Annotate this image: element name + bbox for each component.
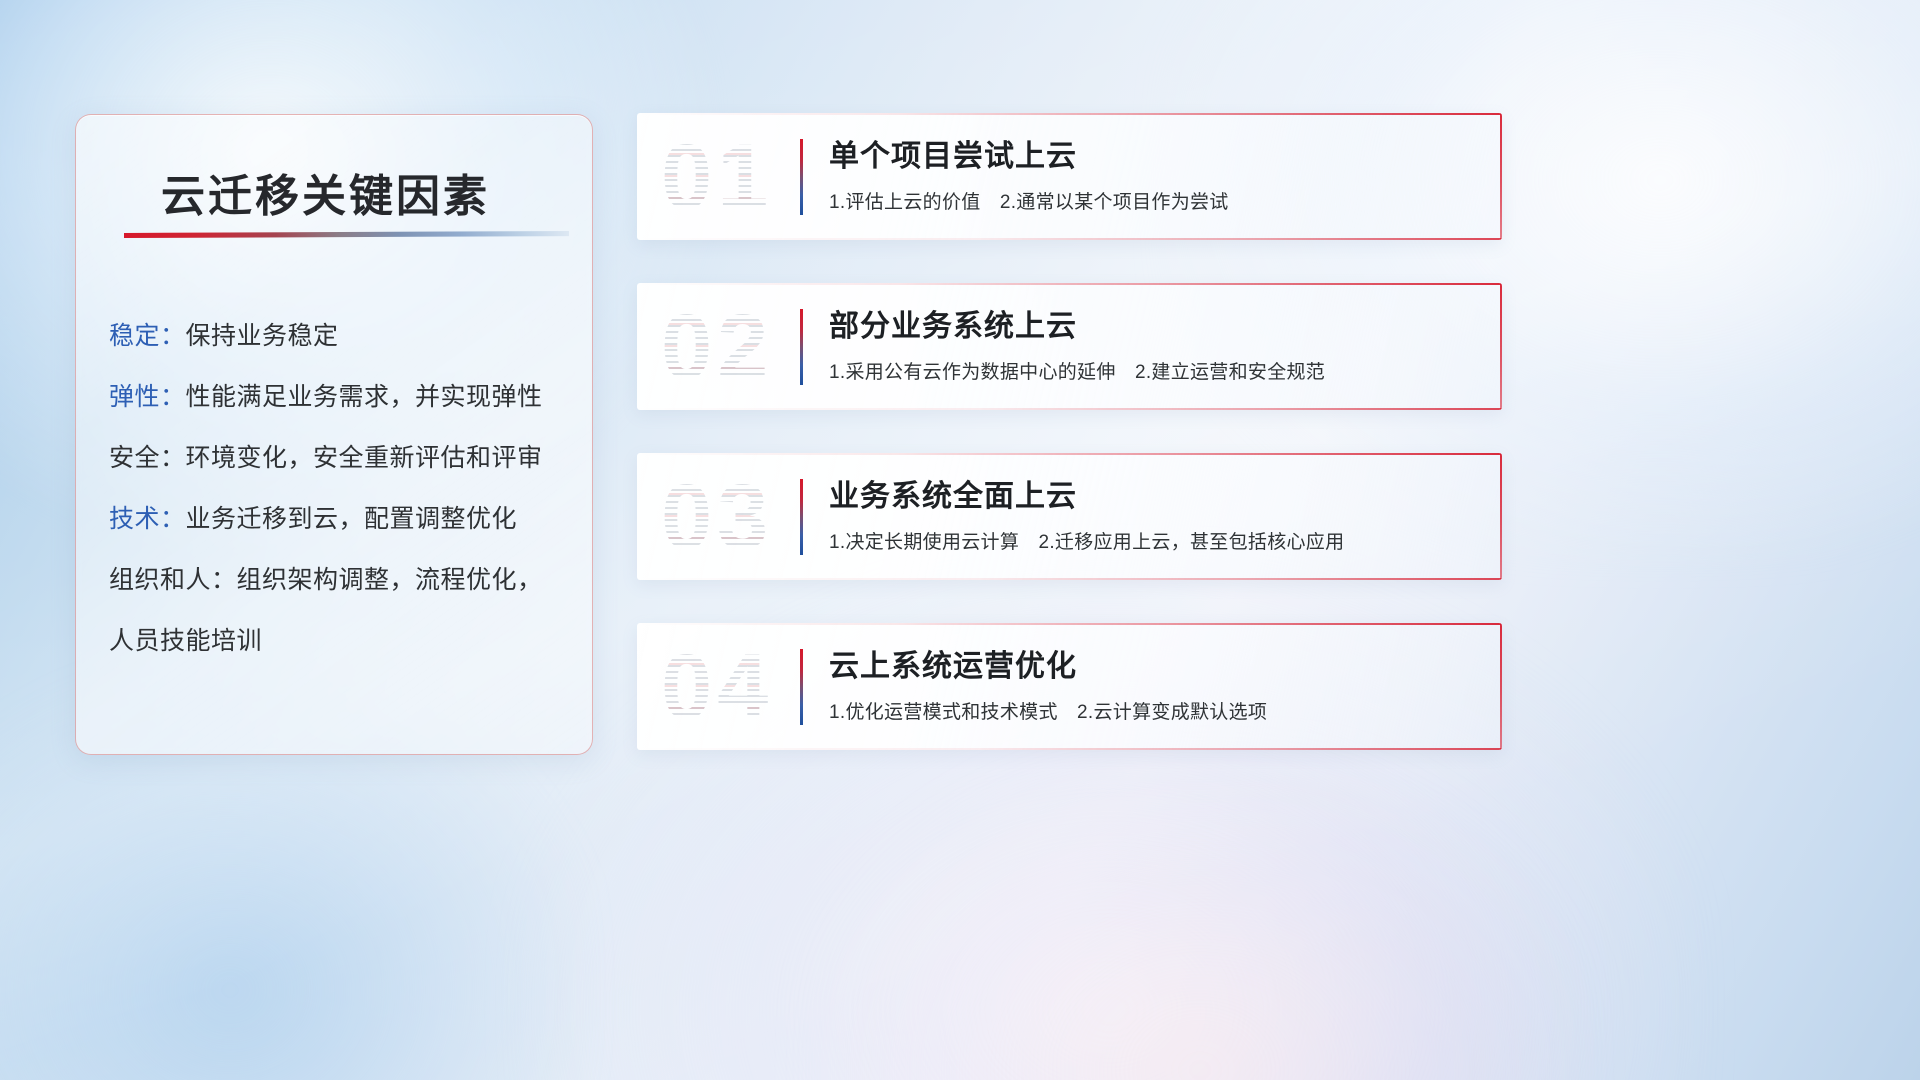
list-item-text: 业务迁移到云，配置调整优化 bbox=[186, 505, 518, 533]
card-divider-bar bbox=[800, 649, 803, 725]
stage-card-body: 业务系统全面上云 1.决定长期使用云计算 2.迁移应用上云，甚至包括核心应用 bbox=[829, 477, 1486, 554]
stage-card[interactable]: 04 04 云上系统运营优化 1.优化运营模式和技术模式 2.云计算变成默认选项 bbox=[637, 623, 1502, 750]
card-bottom-accent bbox=[637, 748, 1502, 750]
list-item-continuation: 人员技能培训 bbox=[109, 611, 574, 672]
list-item-label: 稳定： bbox=[109, 322, 186, 350]
card-divider-bar bbox=[800, 139, 803, 215]
list-item-label: 技术： bbox=[109, 505, 186, 533]
stage-card-heading: 单个项目尝试上云 bbox=[829, 137, 1486, 177]
list-item: 技术：业务迁移到云，配置调整优化 bbox=[109, 489, 574, 550]
stage-card[interactable]: 02 02 部分业务系统上云 1.采用公有云作为数据中心的延伸 2.建立运营和安… bbox=[637, 283, 1502, 410]
stage-card-description: 1.评估上云的价值 2.通常以某个项目作为尝试 bbox=[829, 187, 1486, 214]
stage-number-ghost-tint: 01 bbox=[661, 131, 773, 223]
slide-canvas: 云迁移关键因素 稳定：保持业务稳定 弹性：性能满足业务需求，并实现弹性 安全：环… bbox=[0, 0, 1920, 1080]
card-divider-bar bbox=[800, 309, 803, 385]
card-right-accent bbox=[1500, 113, 1502, 240]
list-item-label: 组织和人： bbox=[109, 566, 237, 594]
list-item-label: 安全： bbox=[109, 444, 186, 472]
stage-card[interactable]: 03 03 业务系统全面上云 1.决定长期使用云计算 2.迁移应用上云，甚至包括… bbox=[637, 453, 1502, 580]
card-divider-bar bbox=[800, 479, 803, 555]
list-item: 安全：环境变化，安全重新评估和评审 bbox=[109, 428, 574, 489]
list-item: 组织和人：组织架构调整，流程优化， bbox=[109, 550, 574, 611]
list-item-text: 人员技能培训 bbox=[109, 627, 262, 655]
card-top-accent bbox=[637, 113, 1502, 115]
stage-card-heading: 部分业务系统上云 bbox=[829, 307, 1486, 347]
card-top-accent bbox=[637, 283, 1502, 285]
stage-card-body: 部分业务系统上云 1.采用公有云作为数据中心的延伸 2.建立运营和安全规范 bbox=[829, 307, 1486, 384]
stage-card-description: 1.优化运营模式和技术模式 2.云计算变成默认选项 bbox=[829, 697, 1486, 724]
stage-card-description: 1.采用公有云作为数据中心的延伸 2.建立运营和安全规范 bbox=[829, 357, 1486, 384]
card-top-accent bbox=[637, 623, 1502, 625]
stage-card-body: 单个项目尝试上云 1.评估上云的价值 2.通常以某个项目作为尝试 bbox=[829, 137, 1486, 214]
card-right-accent bbox=[1500, 453, 1502, 580]
stage-number-ghost-tint: 02 bbox=[661, 301, 773, 393]
stage-card-body: 云上系统运营优化 1.优化运营模式和技术模式 2.云计算变成默认选项 bbox=[829, 647, 1486, 724]
card-right-accent bbox=[1500, 623, 1502, 750]
stage-card-heading: 业务系统全面上云 bbox=[829, 477, 1486, 517]
card-bottom-accent bbox=[637, 578, 1502, 580]
list-item: 稳定：保持业务稳定 bbox=[109, 306, 574, 367]
list-item-label: 弹性： bbox=[109, 383, 186, 411]
stage-number-ghost-tint: 03 bbox=[661, 471, 773, 563]
list-item-text: 组织架构调整，流程优化， bbox=[237, 566, 543, 594]
card-bottom-accent bbox=[637, 238, 1502, 240]
stage-number-ghost-tint: 04 bbox=[661, 641, 773, 733]
stage-card-list: 01 01 单个项目尝试上云 1.评估上云的价值 2.通常以某个项目作为尝试 0… bbox=[637, 113, 1502, 793]
key-factors-list: 稳定：保持业务稳定 弹性：性能满足业务需求，并实现弹性 安全：环境变化，安全重新… bbox=[109, 306, 574, 672]
stage-card[interactable]: 01 01 单个项目尝试上云 1.评估上云的价值 2.通常以某个项目作为尝试 bbox=[637, 113, 1502, 240]
card-top-accent bbox=[637, 453, 1502, 455]
stage-card-heading: 云上系统运营优化 bbox=[829, 647, 1486, 687]
stage-card-description: 1.决定长期使用云计算 2.迁移应用上云，甚至包括核心应用 bbox=[829, 527, 1486, 554]
list-item: 弹性：性能满足业务需求，并实现弹性 bbox=[109, 367, 574, 428]
key-factors-panel: 云迁移关键因素 稳定：保持业务稳定 弹性：性能满足业务需求，并实现弹性 安全：环… bbox=[75, 114, 593, 755]
list-item-text: 环境变化，安全重新评估和评审 bbox=[186, 444, 543, 472]
card-bottom-accent bbox=[637, 408, 1502, 410]
title-underline-accent bbox=[124, 231, 569, 238]
list-item-text: 性能满足业务需求，并实现弹性 bbox=[186, 383, 543, 411]
list-item-text: 保持业务稳定 bbox=[186, 322, 339, 350]
page-title: 云迁移关键因素 bbox=[161, 160, 490, 224]
card-right-accent bbox=[1500, 283, 1502, 410]
